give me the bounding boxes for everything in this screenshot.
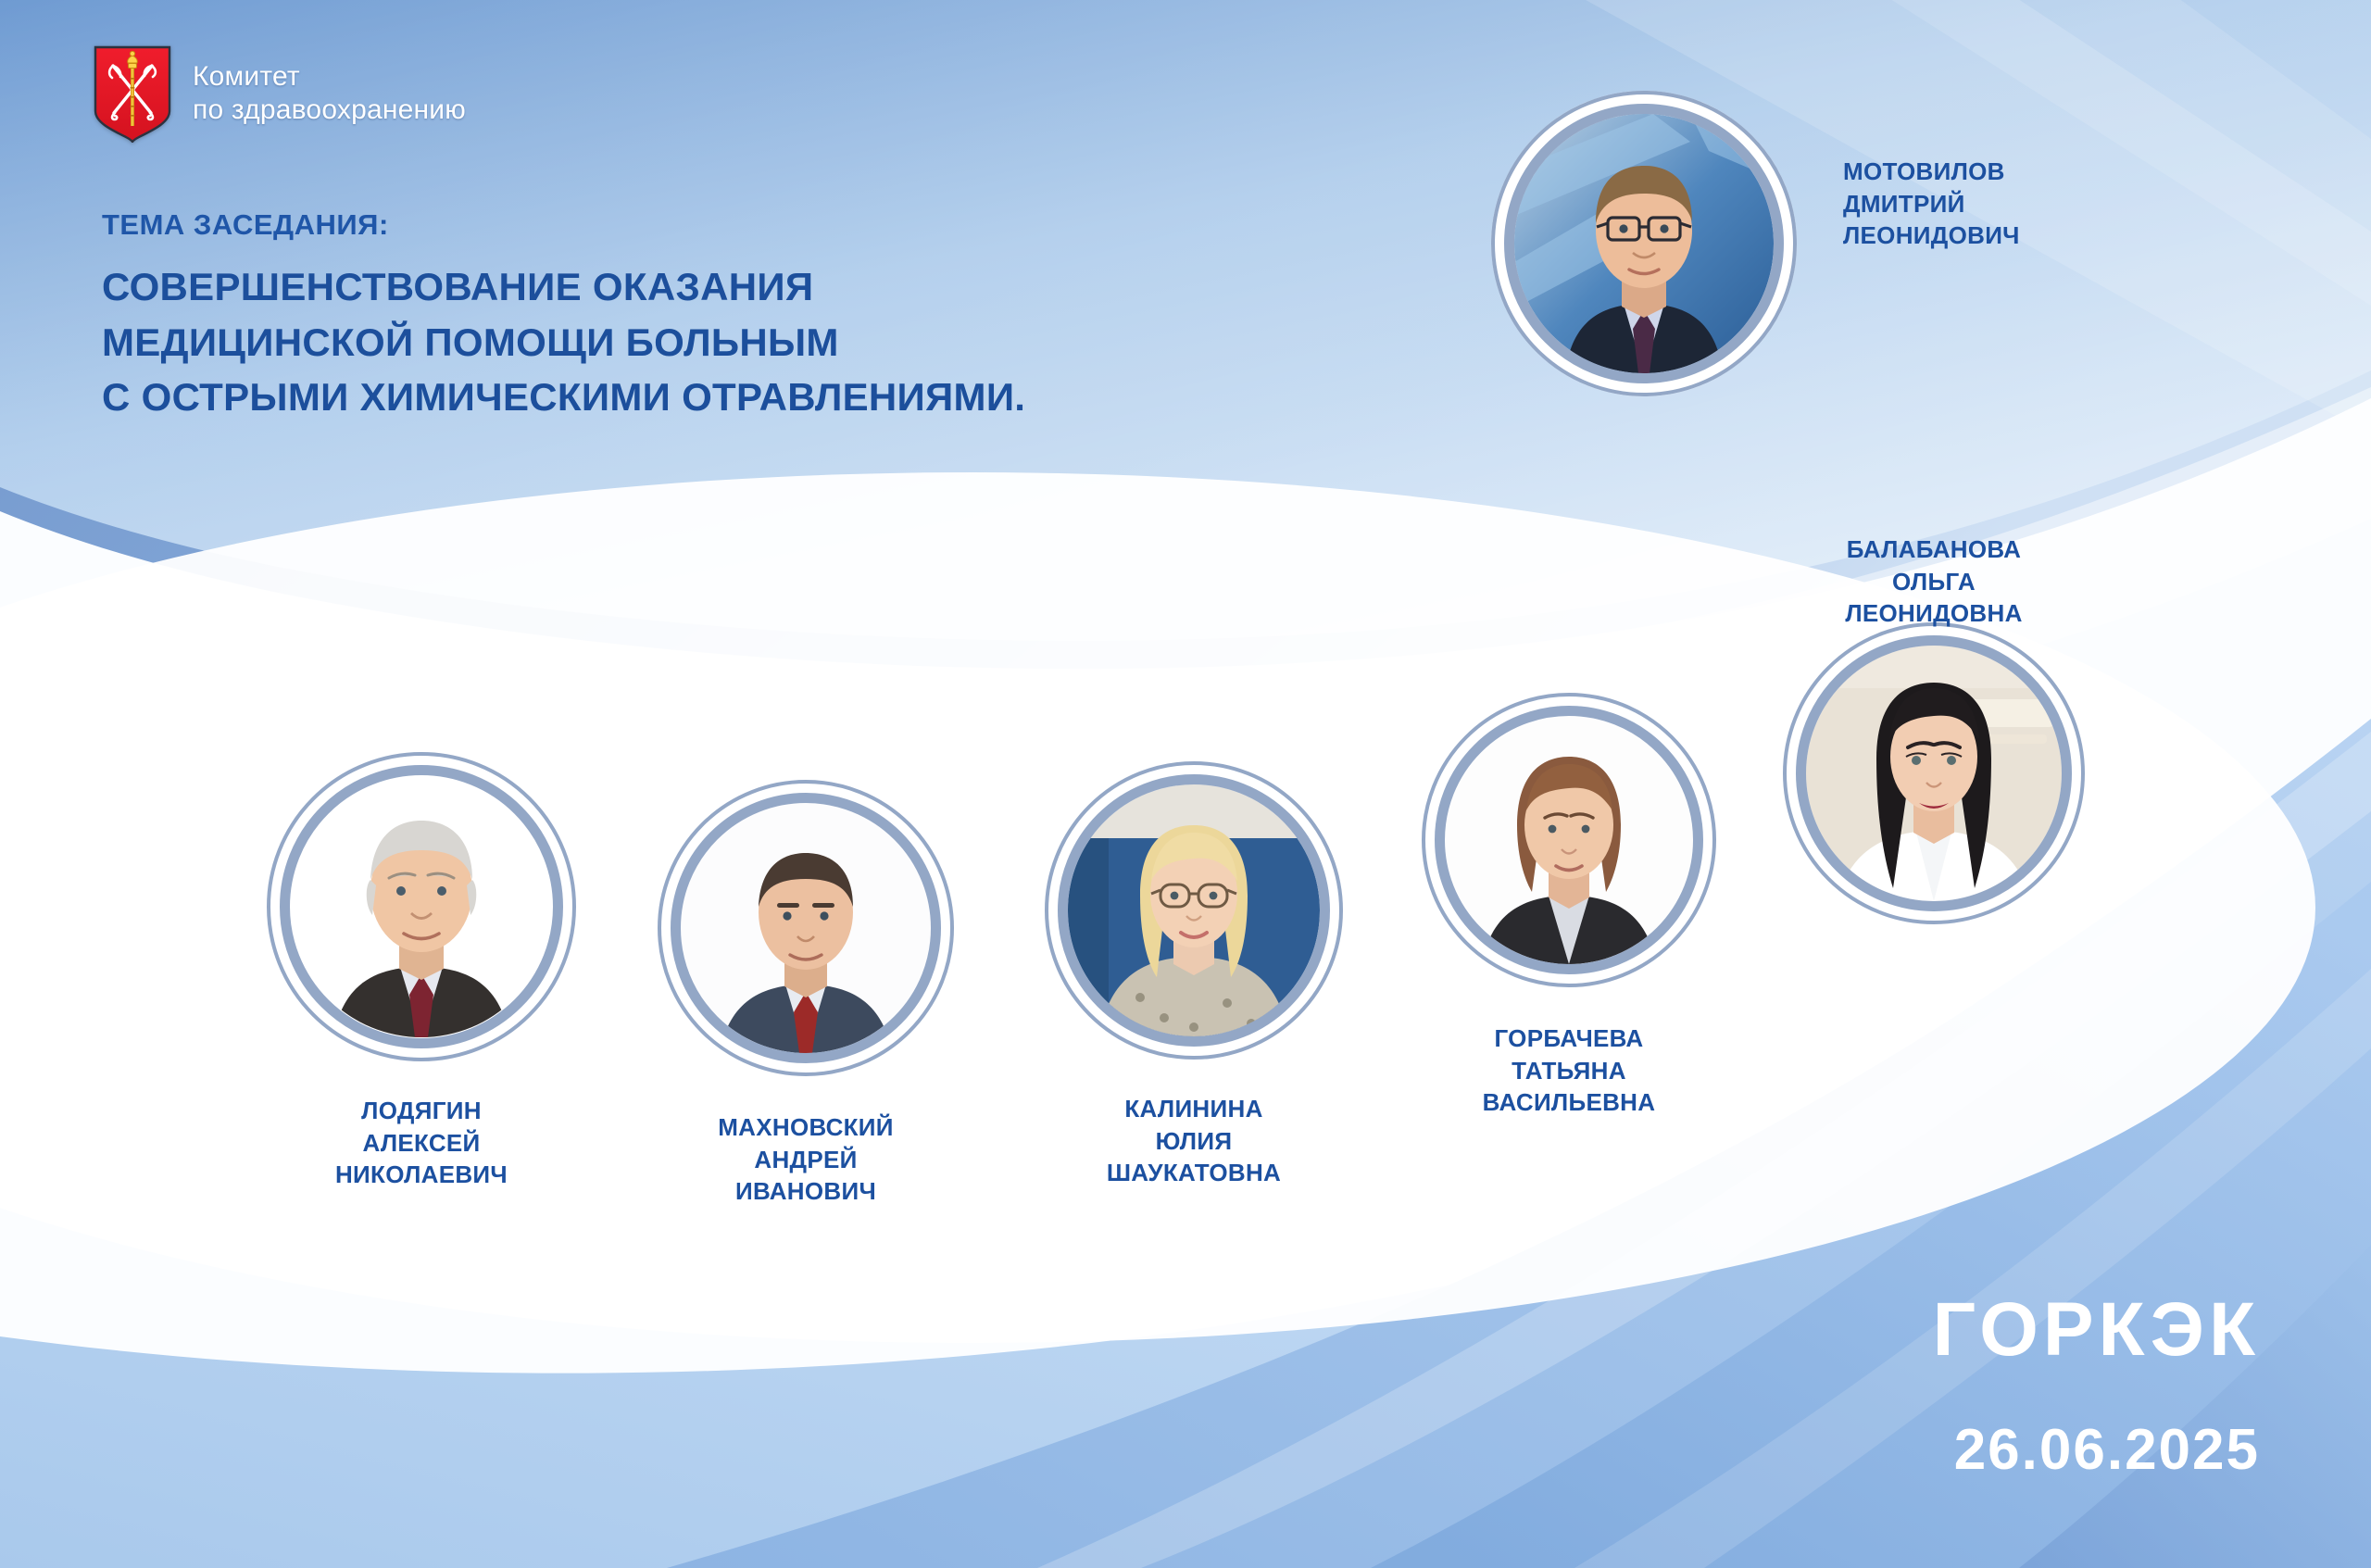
portrait-ring (1491, 91, 1797, 396)
portrait-ring (658, 780, 954, 1076)
name-line-1: КАЛИНИНА (1008, 1093, 1380, 1125)
name-line-2: АНДРЕЙ (619, 1144, 993, 1176)
portrait-kalinina (1068, 784, 1320, 1036)
name-line-1: МАХНОВСКИЙ (619, 1111, 993, 1144)
name-line-2: ЮЛИЯ (1008, 1125, 1380, 1158)
name-line-3: НИКОЛАЕВИЧ (230, 1159, 613, 1191)
name-line-3: ИВАНОВИЧ (619, 1175, 993, 1208)
person-kalinina: КАЛИНИНА ЮЛИЯ ШАУКАТОВНА (1045, 761, 1343, 1060)
topic-kicker: ТЕМА ЗАСЕДАНИЯ: (102, 208, 1025, 242)
name-line-2: ОЛЬГА (1740, 566, 2127, 598)
name-line-2: ДМИТРИЙ (1843, 188, 2020, 220)
person-name-makhnovskiy: МАХНОВСКИЙ АНДРЕЙ ИВАНОВИЧ (619, 1111, 993, 1208)
person-name-gorbacheva: ГОРБАЧЕВА ТАТЬЯНА ВАСИЛЬЕВНА (1385, 1022, 1753, 1119)
logo-line-1: Комитет (193, 60, 466, 94)
person-motovilov: МОТОВИЛОВ ДМИТРИЙ ЛЕОНИДОВИЧ (1491, 91, 1797, 396)
portrait-gorbacheva (1445, 716, 1693, 964)
name-line-2: АЛЕКСЕЙ (230, 1127, 613, 1160)
person-name-balabanova: БАЛАБАНОВА ОЛЬГА ЛЕОНИДОВНА (1740, 533, 2127, 630)
name-line-3: ЛЕОНИДОВНА (1740, 597, 2127, 630)
brand-name: ГОРКЭК (1933, 1292, 2260, 1368)
person-gorbacheva: ГОРБАЧЕВА ТАТЬЯНА ВАСИЛЬЕВНА (1422, 693, 1716, 987)
name-line-2: ТАТЬЯНА (1385, 1055, 1753, 1087)
topic-line-1: СОВЕРШЕНСТВОВАНИЕ ОКАЗАНИЯ (102, 259, 1025, 315)
portrait-ring (1422, 693, 1716, 987)
portrait-motovilov (1514, 114, 1774, 373)
portrait-ring (267, 752, 576, 1061)
committee-logo: Комитет по здравоохранению (93, 44, 466, 143)
portrait-ring (1045, 761, 1343, 1060)
name-line-1: МОТОВИЛОВ (1843, 156, 2020, 188)
name-line-1: БАЛАБАНОВА (1740, 533, 2127, 566)
person-name-lodyagin: ЛОДЯГИН АЛЕКСЕЙ НИКОЛАЕВИЧ (230, 1095, 613, 1191)
logo-line-2: по здравоохранению (193, 94, 466, 127)
committee-logo-text: Комитет по здравоохранению (193, 60, 466, 127)
name-line-3: ЛЕОНИДОВИЧ (1843, 220, 2020, 252)
person-makhnovskiy: МАХНОВСКИЙ АНДРЕЙ ИВАНОВИЧ (658, 780, 954, 1076)
presentation-slide: Комитет по здравоохранению ТЕМА ЗАСЕДАНИ… (0, 0, 2371, 1568)
portrait-makhnovskiy (681, 803, 931, 1053)
brand-date: 26.06.2025 (1954, 1422, 2260, 1479)
name-line-3: ВАСИЛЬЕВНА (1385, 1086, 1753, 1119)
meeting-topic-block: ТЕМА ЗАСЕДАНИЯ: СОВЕРШЕНСТВОВАНИЕ ОКАЗАН… (102, 208, 1025, 425)
portrait-lodyagin (291, 776, 552, 1037)
person-balabanova: БАЛАБАНОВА ОЛЬГА ЛЕОНИДОВНА (1783, 622, 2085, 924)
name-line-1: ЛОДЯГИН (230, 1095, 613, 1127)
person-lodyagin: ЛОДЯГИН АЛЕКСЕЙ НИКОЛАЕВИЧ (267, 752, 576, 1061)
name-line-3: ШАУКАТОВНА (1008, 1157, 1380, 1189)
person-name-motovilov: МОТОВИЛОВ ДМИТРИЙ ЛЕОНИДОВИЧ (1843, 156, 2020, 252)
portrait-balabanova (1806, 646, 2062, 901)
person-name-kalinina: КАЛИНИНА ЮЛИЯ ШАУКАТОВНА (1008, 1093, 1380, 1189)
topic-line-2: МЕДИЦИНСКОЙ ПОМОЩИ БОЛЬНЫМ (102, 315, 1025, 370)
name-line-1: ГОРБАЧЕВА (1385, 1022, 1753, 1055)
portrait-ring (1783, 622, 2085, 924)
saint-petersburg-coat-of-arms-icon (93, 44, 172, 143)
topic-line-3: С ОСТРЫМИ ХИМИЧЕСКИМИ ОТРАВЛЕНИЯМИ. (102, 370, 1025, 425)
